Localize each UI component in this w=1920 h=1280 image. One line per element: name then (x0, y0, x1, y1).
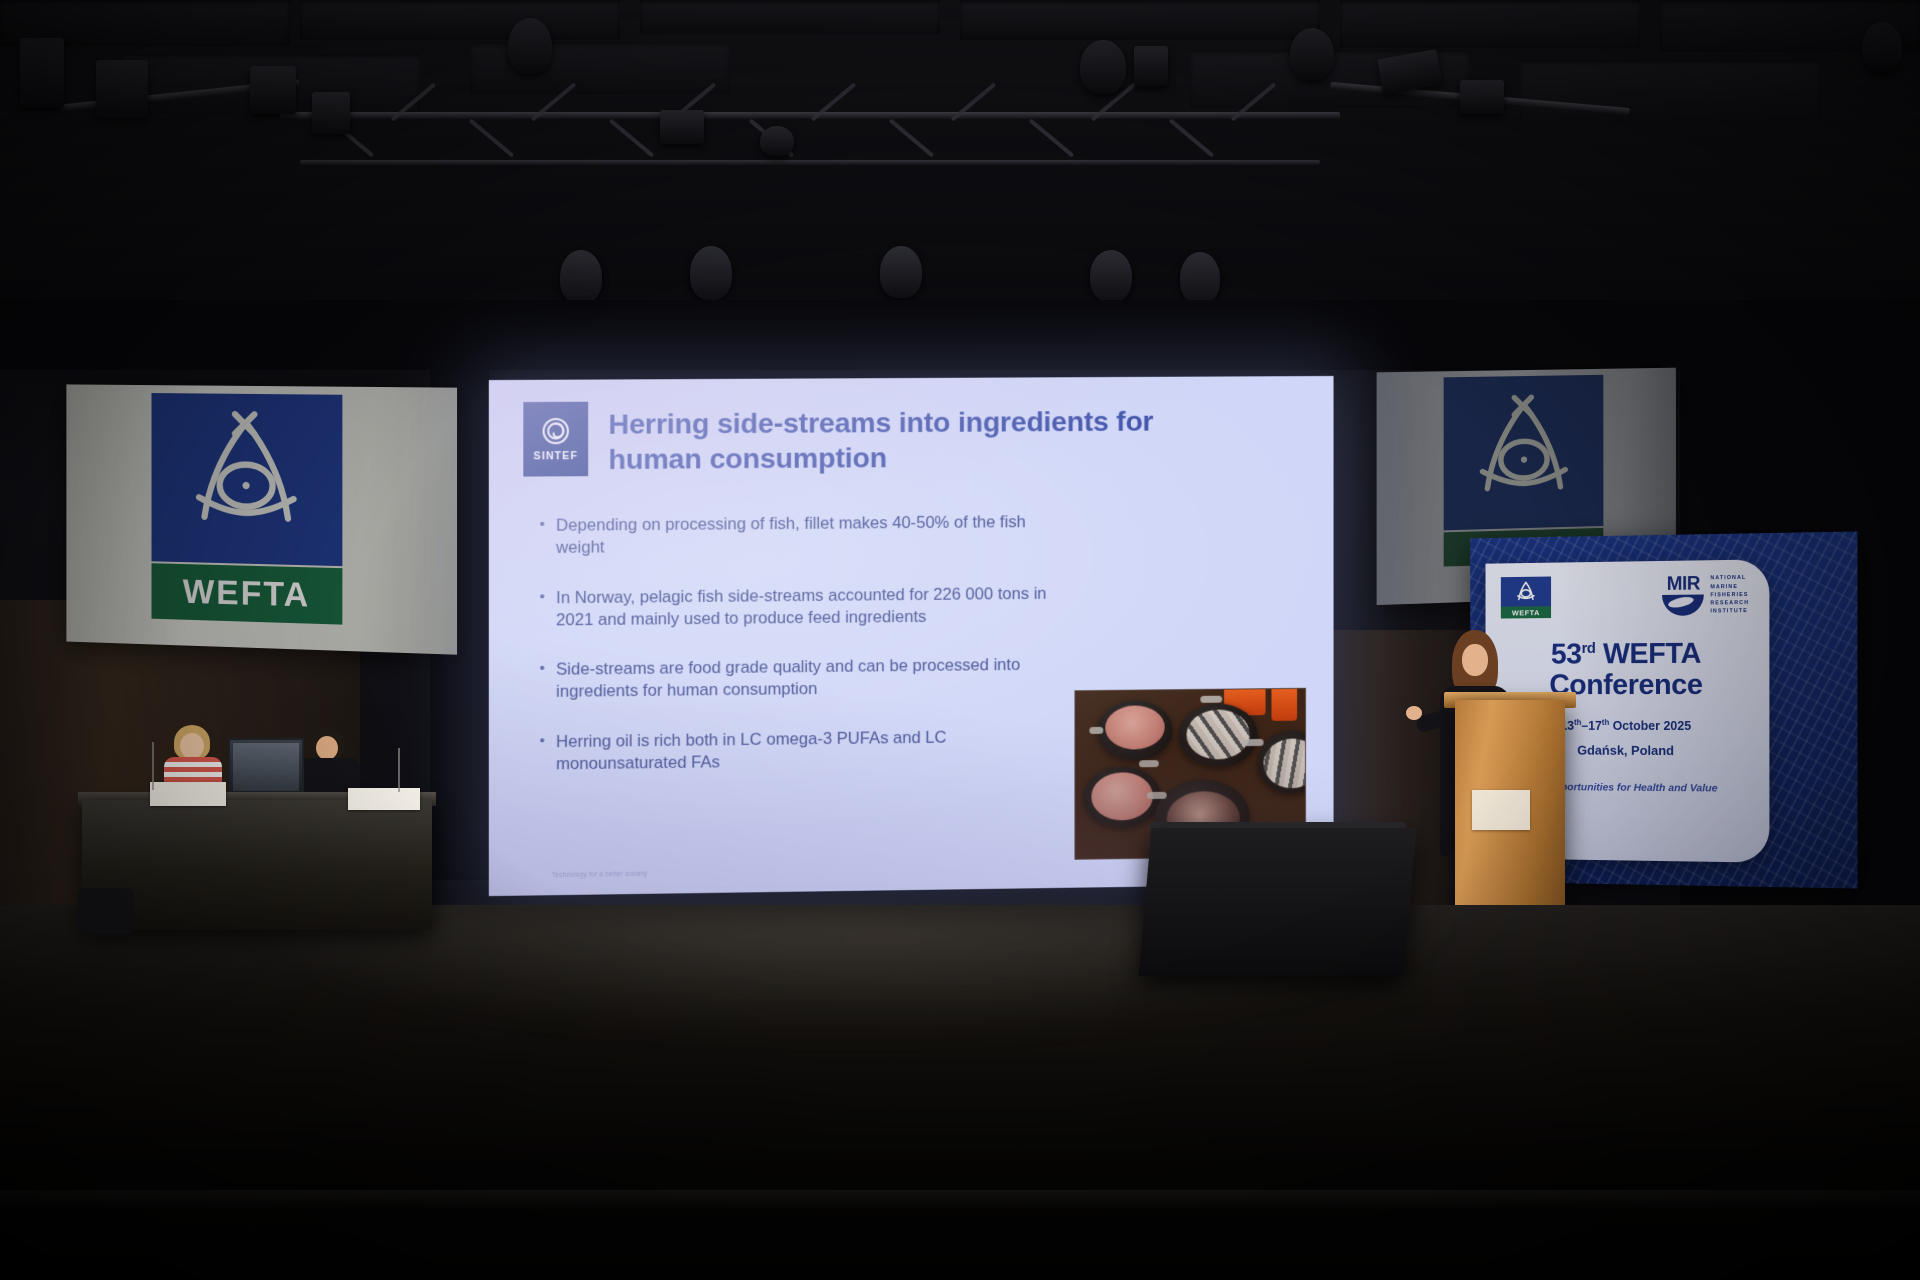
stage-light (20, 38, 64, 108)
slide-header: SINTEF Herring side-streams into ingredi… (523, 402, 1300, 479)
lectern-notes (1472, 790, 1530, 830)
slide-footer-note: Technology for a better society (552, 871, 647, 879)
sintef-spiral-icon (541, 416, 571, 446)
wefta-flag-left: WEFTA (66, 384, 457, 654)
mir-subtitle-line: INSTITUTE (1710, 607, 1749, 616)
sintef-wordmark: SINTEF (533, 450, 578, 462)
slide-title-line-2: human consumption (608, 440, 1153, 479)
wefta-fish-triquetra-icon (1513, 579, 1538, 605)
stage-light (1460, 80, 1504, 114)
stage-light (690, 246, 732, 300)
stage-light (1080, 40, 1126, 94)
mir-subtitle-line: NATIONAL (1710, 574, 1749, 583)
slide: SINTEF Herring side-streams into ingredi… (489, 376, 1334, 896)
backdrop-logo-row: WEFTA MIR NATIONAL MARINE FISHERIES RESE… (1499, 572, 1755, 619)
stage-light (1090, 250, 1132, 302)
stage-light (880, 246, 922, 298)
mir-wordmark: MIR (1667, 575, 1700, 594)
bullet-text: Depending on processing of fish, fillet … (556, 511, 1047, 559)
stage-light (1862, 22, 1902, 72)
slide-bullet: • Herring oil is rich both in LC omega-3… (540, 725, 1047, 776)
backdrop-wefta-logo: WEFTA (1501, 577, 1551, 619)
slide-bullet: • Side-streams are food grade quality an… (540, 654, 1047, 704)
microphone-stand (152, 742, 154, 790)
mir-fish-disc-icon (1662, 595, 1704, 616)
slide-bullet: • In Norway, pelagic fish side-streams a… (540, 582, 1047, 631)
mir-subtitle: NATIONAL MARINE FISHERIES RESEARCH INSTI… (1710, 574, 1749, 616)
laptop[interactable] (228, 738, 304, 796)
conference-number: 53 (1551, 639, 1582, 671)
wefta-fish-triquetra-icon (1463, 389, 1585, 514)
stage-light (250, 66, 296, 114)
bullet-text: Side-streams are food grade quality and … (556, 654, 1047, 704)
speaker-hand-with-clicker (1406, 706, 1422, 720)
floor-reflection (180, 915, 1660, 1095)
name-card-left (150, 782, 226, 806)
date-to: 17 (1588, 720, 1602, 734)
bullet-text: In Norway, pelagic fish side-streams acc… (556, 582, 1047, 631)
slide-title: Herring side-streams into ingredients fo… (608, 405, 1153, 478)
conference-name: WEFTA (1603, 638, 1701, 671)
date-to-ordinal: th (1602, 718, 1609, 727)
chairperson-desk (82, 800, 432, 930)
backdrop-mir-logo: MIR NATIONAL MARINE FISHERIES RESEARCH I… (1662, 574, 1749, 616)
backdrop-wefta-word: WEFTA (1512, 608, 1540, 617)
wefta-flag-word: WEFTA (183, 572, 311, 615)
floor-hatch (845, 930, 920, 944)
microphone-stand (398, 748, 400, 792)
stage-light (1134, 46, 1168, 86)
slide-bullet: • Depending on processing of fish, fille… (540, 511, 1047, 559)
stage-light (660, 110, 704, 144)
bullet-text: Herring oil is rich both in LC omega-3 P… (556, 725, 1047, 775)
laptop-screen (233, 743, 299, 791)
bullet-marker-icon: • (540, 587, 545, 632)
date-from-ordinal: th (1574, 718, 1581, 727)
bullet-marker-icon: • (540, 659, 545, 704)
date-month-year: October 2025 (1609, 720, 1691, 734)
stage-light (760, 126, 794, 156)
stage-light (1290, 28, 1334, 80)
stage-light (96, 60, 148, 118)
stage-light (312, 92, 350, 134)
conference-photo: WEFTA WEFTA (0, 0, 1920, 1280)
stage-light (560, 250, 602, 304)
bullet-marker-icon: • (540, 731, 545, 776)
stage-light (508, 18, 552, 74)
bullet-marker-icon: • (540, 515, 545, 560)
slide-title-line-1: Herring side-streams into ingredients fo… (608, 405, 1153, 443)
speaker-face (1462, 644, 1488, 676)
wefta-fish-triquetra-icon (172, 405, 321, 547)
stage-edge (0, 1190, 1920, 1208)
ceiling (0, 0, 1920, 320)
backdrop-title-line-1: 53rd WEFTA (1499, 638, 1755, 670)
stage-floor-monitor (1139, 828, 1417, 976)
chair-right-head (316, 736, 338, 760)
stage-light (1180, 252, 1220, 304)
name-card-right (348, 788, 420, 810)
projection-screen: SINTEF Herring side-streams into ingredi… (489, 376, 1334, 896)
bag-on-floor (78, 888, 134, 934)
chair-left-head (180, 733, 204, 759)
conference-ordinal: rd (1582, 640, 1596, 657)
sintef-logo: SINTEF (523, 402, 588, 477)
